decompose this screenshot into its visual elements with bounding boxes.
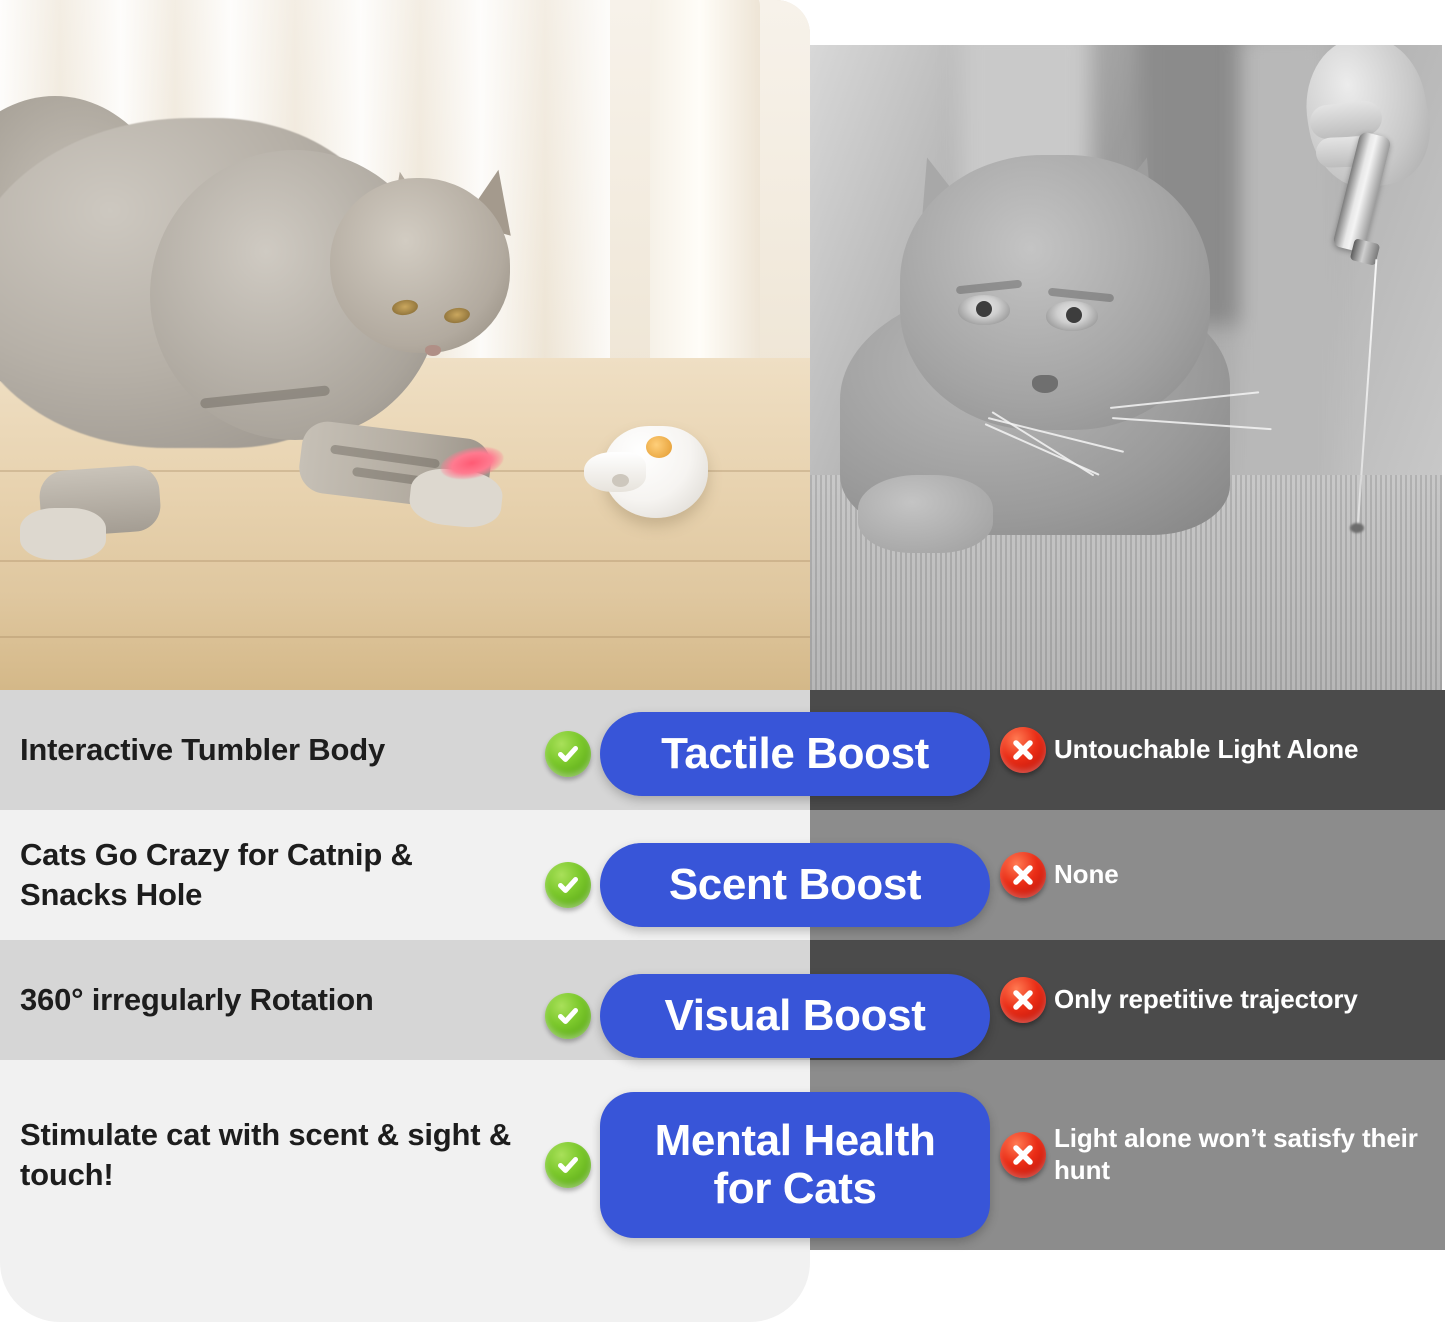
con-label: Only repetitive trajectory [1046, 984, 1445, 1016]
floor-plank-line [0, 636, 810, 638]
cat-pupil-right [1066, 307, 1082, 323]
benefit-pill-mental-health: Mental Health for Cats [600, 1092, 990, 1238]
toy-snack-hole [612, 474, 629, 487]
cat-nose [425, 345, 441, 356]
benefit-pill-scent: Scent Boost [600, 843, 990, 927]
benefit-pill-visual: Visual Boost [600, 974, 990, 1058]
benefit-pill-label-line2: for Cats [713, 1165, 876, 1213]
cross-circle-icon [1000, 977, 1046, 1023]
laser-dot [1350, 523, 1364, 533]
pro-label: Stimulate cat with scent & sight & touch… [0, 1115, 530, 1196]
check-badge-row-1 [545, 731, 591, 777]
cross-circle-icon [1000, 1132, 1046, 1178]
cat-tree-post [650, 0, 760, 390]
check-circle-icon [545, 1142, 591, 1188]
check-badge-row-4 [545, 1142, 591, 1188]
cross-circle-icon [1000, 852, 1046, 898]
cat-paw-rear [20, 508, 106, 560]
benefit-pill-label: Scent Boost [669, 862, 921, 908]
benefit-pill-label: Visual Boost [665, 993, 926, 1039]
check-badge-row-3 [545, 993, 591, 1039]
benefit-pill-label-line1: Mental Health [655, 1117, 936, 1165]
benefit-pill-tactile: Tactile Boost [600, 712, 990, 796]
comparison-infographic: Untouchable Light Alone None Only repeti… [0, 0, 1445, 1328]
pro-label: Cats Go Crazy for Catnip & Snacks Hole [0, 835, 530, 916]
con-label: Light alone won’t satisfy their hunt [1046, 1123, 1445, 1186]
cat-pupil-left [976, 301, 992, 317]
check-badge-row-2 [545, 862, 591, 908]
con-label: None [1046, 859, 1445, 891]
grumpy-cat-with-handheld-laser-pointer-photo [810, 45, 1442, 690]
pro-label: 360° irregularly Rotation [0, 980, 530, 1020]
benefit-pill-label: Tactile Boost [661, 731, 929, 777]
floor-plank-line [0, 560, 810, 562]
check-circle-icon [545, 862, 591, 908]
check-circle-icon [545, 731, 591, 777]
cat-nose [1032, 375, 1058, 393]
cat-paw [858, 475, 993, 553]
cat-chasing-laser-tumbler-toy-photo [0, 0, 810, 690]
pro-label: Interactive Tumbler Body [0, 730, 530, 770]
tumbler-cat-toy [590, 418, 720, 528]
cross-circle-icon [1000, 727, 1046, 773]
cat-head [330, 178, 510, 353]
check-circle-icon [545, 993, 591, 1039]
con-label: Untouchable Light Alone [1046, 734, 1445, 766]
toy-laser-window [646, 436, 672, 458]
